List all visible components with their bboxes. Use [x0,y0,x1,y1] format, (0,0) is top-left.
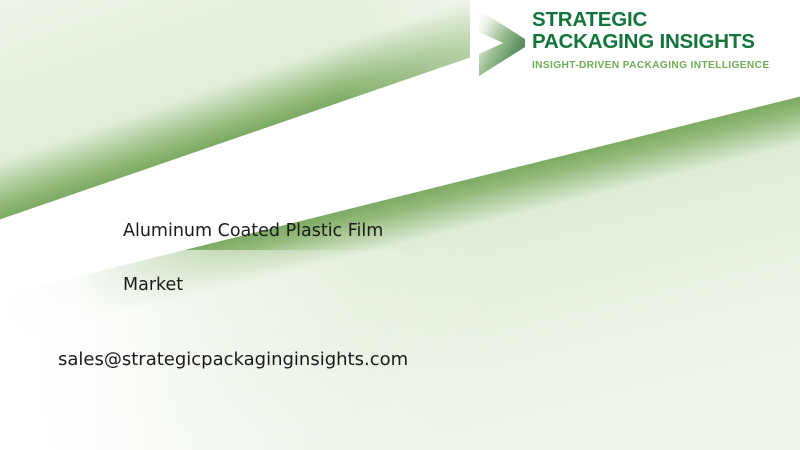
logo-line-2: PACKAGING INSIGHTS [532,31,769,53]
title-line-1: Aluminum Coated Plastic Film [123,220,543,243]
logo-tagline: INSIGHT-DRIVEN PACKAGING INTELLIGENCE [532,59,769,73]
company-logo: STRATEGIC PACKAGING INSIGHTS INSIGHT-DRI… [470,0,800,86]
logo-wordmark: STRATEGIC PACKAGING INSIGHTS INSIGHT-DRI… [532,0,769,73]
title-slide: STRATEGIC PACKAGING INSIGHTS INSIGHT-DRI… [0,0,800,450]
contact-email[interactable]: sales@strategicpackaginginsights.com [58,348,408,372]
logo-line-1: STRATEGIC [532,9,769,31]
chevron-arrow-icon [470,0,532,86]
title-line-2: Market [123,274,543,297]
slide-title: Aluminum Coated Plastic Film Market [123,220,543,297]
